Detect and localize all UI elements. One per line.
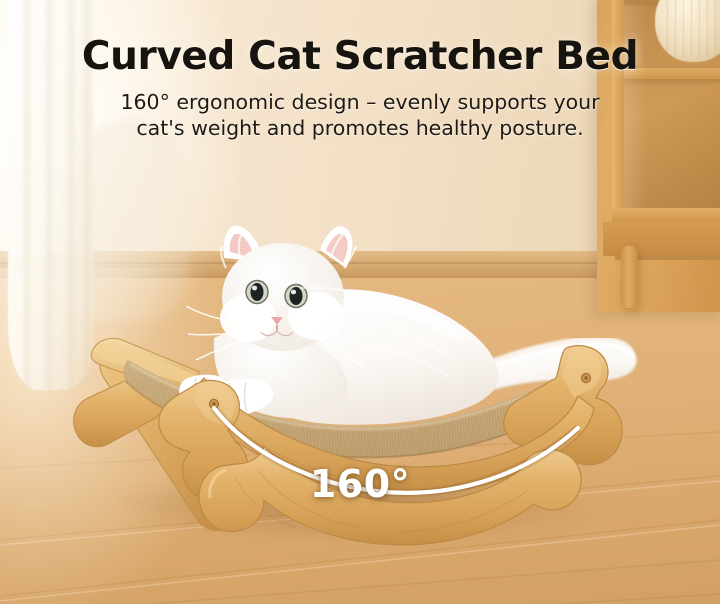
angle-label: 160°	[0, 462, 720, 506]
product-banner: Curved Cat Scratcher Bed 160° ergonomic …	[0, 0, 720, 604]
page-title: Curved Cat Scratcher Bed	[0, 34, 720, 79]
subtitle-line-1: 160° ergonomic design – evenly supports …	[0, 89, 720, 116]
subtitle-line-2: cat's weight and promotes healthy postur…	[0, 115, 720, 142]
